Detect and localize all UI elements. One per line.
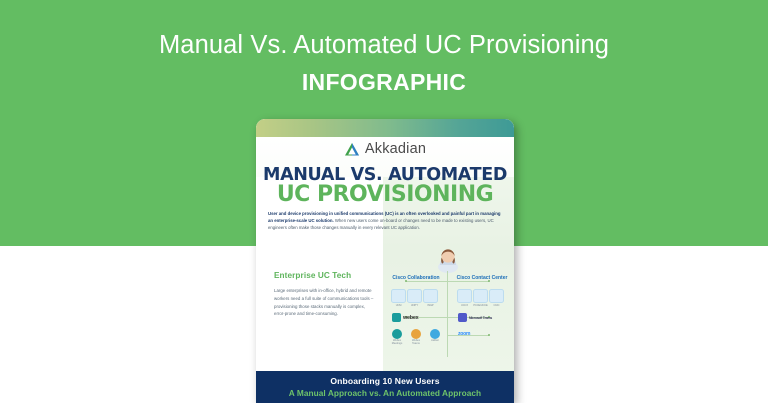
cisco-imp-icon <box>423 289 438 303</box>
branch-title-cisco-collaboration: Cisco Collaboration <box>388 275 444 281</box>
chip-pcce[interactable]: PCCE/UCCE <box>474 289 487 307</box>
enterprise-uc-tech-body: Large enterprises with in-office, hybrid… <box>274 287 374 318</box>
zoom-label: zoom <box>458 331 470 337</box>
diagram-stem <box>447 271 448 357</box>
akkadian-triangle-logo-icon <box>344 142 360 157</box>
chip-label: PCCE/UCCE <box>473 304 487 307</box>
chip-label: UCCX <box>461 304 468 307</box>
page-title: Manual Vs. Automated UC Provisioning <box>0 31 768 60</box>
chip-imp[interactable]: IM&P <box>424 289 437 307</box>
app-webex-teams[interactable]: Webex Teams <box>409 329 423 346</box>
app-label: Jabber <box>431 340 439 343</box>
branch-title-cisco-contact-center: Cisco Contact Center <box>454 275 510 281</box>
chip-label: IM&P <box>428 304 434 307</box>
app-jabber[interactable]: Jabber <box>428 329 442 346</box>
cisco-unity-icon <box>407 289 422 303</box>
brand-logo: Akkadian <box>256 141 514 157</box>
jabber-icon <box>430 329 440 339</box>
chip-ucm[interactable]: UCM <box>392 289 405 307</box>
chip-label: CUIC <box>494 304 500 307</box>
microsoft-teams-label: Microsoft Teams <box>469 316 492 320</box>
cisco-ucm-icon <box>391 289 406 303</box>
webex-meetings-icon <box>392 329 402 339</box>
infographic-headline-bottom: UC PROVISIONING <box>256 182 514 207</box>
enterprise-uc-tech-column: Enterprise UC Tech Large enterprises wit… <box>274 271 374 318</box>
diagram-dot-5 <box>488 334 490 336</box>
cisco-cuic-icon <box>489 289 504 303</box>
user-avatar-icon <box>436 247 460 273</box>
app-webex-meetings[interactable]: Webex Meetings <box>390 329 404 346</box>
app-label: Webex Meetings <box>390 340 404 346</box>
chip-cuic[interactable]: CUIC <box>490 289 503 307</box>
webex-teams-icon <box>411 329 421 339</box>
screenshot-root: Manual Vs. Automated UC Provisioning INF… <box>0 0 768 403</box>
brand-name: Akkadian <box>365 141 426 157</box>
webex-label: webex <box>403 315 418 321</box>
diagram-branch-top <box>406 281 489 282</box>
uc-stack-diagram: Cisco Collaboration Cisco Contact Center… <box>386 247 512 387</box>
cisco-uccx-icon <box>457 289 472 303</box>
cisco-pcce-icon <box>473 289 488 303</box>
app-label: Webex Teams <box>409 340 423 346</box>
webex-apps-row: Webex Meetings Webex Teams Jabber <box>390 329 442 346</box>
chip-label: UCM <box>396 304 402 307</box>
infographic-lead-paragraph: User and device provisioning in unified … <box>268 211 502 232</box>
webex-icon <box>392 313 401 322</box>
infographic-card[interactable]: Akkadian MANUAL VS. AUTOMATED UC PROVISI… <box>256 119 514 403</box>
card-top-gradient-bar <box>256 119 514 137</box>
page-subtitle: INFOGRAPHIC <box>0 69 768 96</box>
chip-unity[interactable]: UNITY <box>408 289 421 307</box>
chip-label: UNITY <box>411 304 418 307</box>
chip-uccx[interactable]: UCCX <box>458 289 471 307</box>
cisco-collaboration-chips: UCM UNITY IM&P <box>392 289 437 307</box>
onboarding-banner: Onboarding 10 New Users A Manual Approac… <box>256 371 514 403</box>
brand-zoom[interactable]: zoom <box>458 331 470 337</box>
enterprise-uc-tech-heading: Enterprise UC Tech <box>274 271 374 280</box>
banner-line-1: Onboarding 10 New Users <box>330 376 439 386</box>
cisco-contact-center-chips: UCCX PCCE/UCCE CUIC <box>458 289 503 307</box>
microsoft-teams-icon <box>458 313 467 322</box>
brand-microsoft-teams[interactable]: Microsoft Teams <box>458 313 492 322</box>
brand-webex[interactable]: webex <box>392 313 418 322</box>
banner-line-2: A Manual Approach vs. An Automated Appro… <box>289 388 481 398</box>
